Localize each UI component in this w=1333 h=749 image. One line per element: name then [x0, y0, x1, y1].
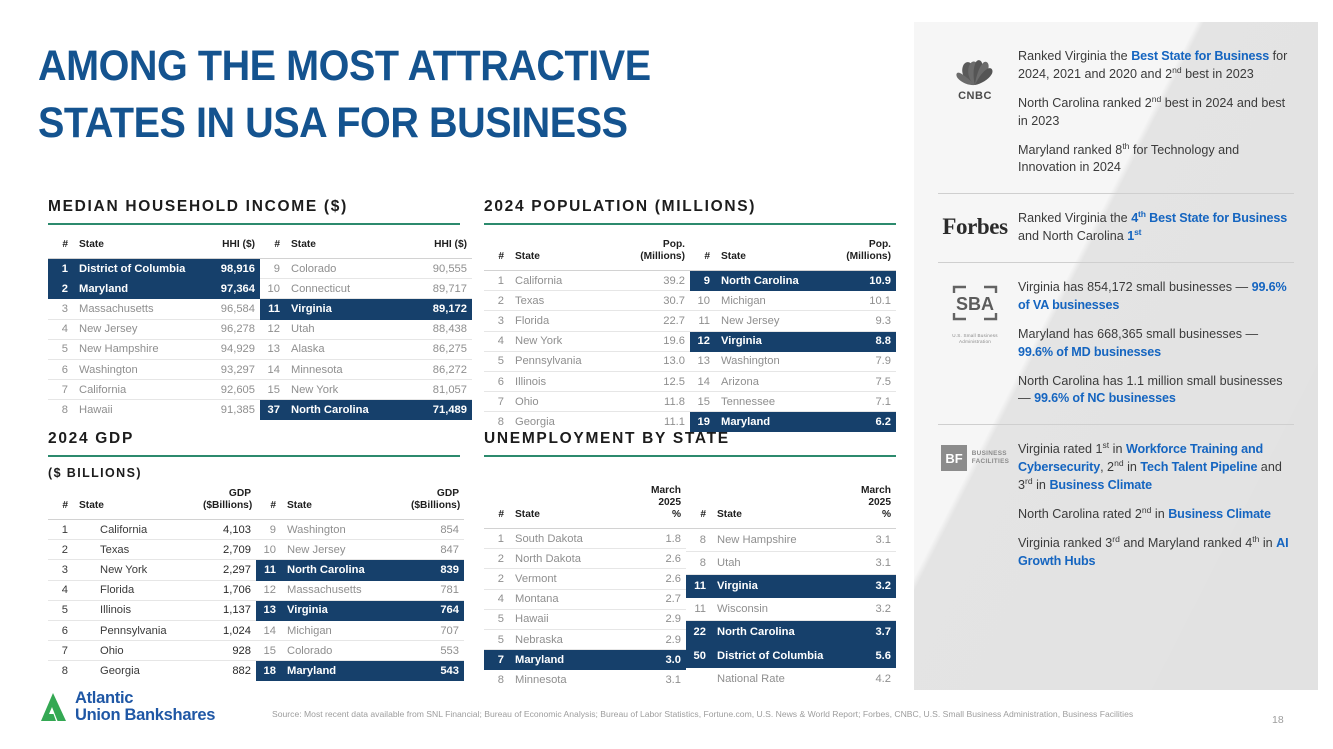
cell-value: 96,278 — [204, 319, 260, 339]
column-header-value: Pop.(Millions) — [628, 237, 690, 271]
cell-rank: 19 — [690, 412, 716, 432]
table-row: National Rate4.2 — [686, 667, 896, 690]
cell-value: 10.9 — [834, 271, 896, 291]
cell-state: California — [74, 520, 198, 540]
body-text: Maryland has 668,365 small businesses — — [1018, 327, 1258, 341]
table-row: 6Pennsylvania1,024 — [48, 621, 256, 641]
table-row: 1California4,103 — [48, 520, 256, 540]
section-2024-gdp: 2024 GDP ($ BILLIONS) #StateGDP($Billion… — [48, 430, 460, 681]
business-facilities-logo: BF BUSINESSFACILITIES — [941, 445, 1009, 471]
column-header-rank: # — [484, 237, 510, 271]
cell-rank: 9 — [256, 520, 282, 540]
cell-state: Colorado — [282, 641, 406, 661]
table-row: 19Maryland6.2 — [690, 412, 896, 432]
source-note: Source: Most recent data available from … — [272, 709, 1133, 719]
cell-rank: 10 — [260, 279, 286, 299]
cell-value: 854 — [406, 520, 464, 540]
cell-value: 22.7 — [628, 311, 690, 331]
cell-rank: 8 — [48, 661, 74, 681]
section-heading: UNEMPLOYMENT BY STATE — [484, 430, 896, 448]
cell-rank: 1 — [484, 271, 510, 291]
panel-block-cnbc: CNBCRanked Virginia the Best State for B… — [914, 48, 1318, 177]
cell-rank: 18 — [256, 661, 282, 681]
cell-value: 81,057 — [416, 380, 472, 400]
cell-state: Virginia — [716, 331, 834, 351]
cell-state: North Carolina — [282, 560, 406, 580]
cell-rank: 8 — [484, 412, 510, 432]
table-row: 15New York81,057 — [260, 380, 472, 400]
cell-value: 11.1 — [628, 412, 690, 432]
cell-state: Maryland — [282, 661, 406, 681]
cell-value: 2,709 — [198, 540, 256, 560]
cell-value: 11.8 — [628, 392, 690, 412]
cell-state: New Jersey — [282, 540, 406, 560]
cell-rank: 9 — [690, 271, 716, 291]
table-pair-income: #StateHHI ($)1District of Columbia98,916… — [48, 237, 460, 420]
cell-value: 39.2 — [628, 271, 690, 291]
cell-state: Florida — [74, 580, 198, 600]
panel-block-forbes: ForbesRanked Virginia the 4th Best State… — [914, 210, 1318, 246]
cell-value: 3.7 — [838, 621, 896, 644]
atlantic-union-mark-icon — [40, 692, 68, 722]
cell-state: Nebraska — [510, 630, 626, 650]
cnbc-peacock-icon — [951, 52, 999, 88]
table-row: 8Utah3.1 — [686, 552, 896, 575]
table-row: 10Michigan10.1 — [690, 291, 896, 311]
body-text: in — [1124, 460, 1141, 474]
table-row: 2North Dakota2.6 — [484, 549, 686, 569]
cell-value: 92,605 — [204, 380, 260, 400]
cell-rank — [686, 667, 712, 690]
cell-value: 9.3 — [834, 311, 896, 331]
page-title-line-2: STATES IN USA FOR BUSINESS — [38, 95, 645, 152]
company-logo-line-2: Union Bankshares — [75, 707, 215, 724]
section-unemployment-by-state: UNEMPLOYMENT BY STATE #StateMarch 2025%1… — [484, 430, 896, 690]
page-title-line-1: AMONG THE MOST ATTRACTIVE — [38, 38, 645, 95]
cell-rank: 7 — [48, 380, 74, 400]
cell-state: Utah — [712, 552, 838, 575]
cell-state: Michigan — [716, 291, 834, 311]
svg-text:SBA: SBA — [956, 294, 994, 314]
cell-rank: 5 — [484, 351, 510, 371]
table-gdp-left: #StateGDP($Billions)1California4,1032Tex… — [48, 486, 256, 681]
highlighted-text: 99.6% of MD businesses — [1018, 345, 1161, 359]
panel-divider — [938, 424, 1294, 425]
section-rule — [484, 223, 896, 225]
table-row: 1California39.2 — [484, 271, 690, 291]
cell-state: Minnesota — [510, 670, 626, 690]
cell-rank: 2 — [484, 291, 510, 311]
cell-rank: 6 — [484, 372, 510, 392]
table-row: 9Colorado90,555 — [260, 259, 472, 279]
table-unemployment-left: #StateMarch 2025%1South Dakota1.82North … — [484, 483, 686, 690]
table-row: 5Nebraska2.9 — [484, 630, 686, 650]
panel-logo-slot: CNBC — [932, 48, 1018, 177]
section-heading: 2024 GDP — [48, 430, 460, 448]
section-heading: MEDIAN HOUSEHOLD INCOME ($) — [48, 198, 460, 216]
panel-paragraph: North Carolina ranked 2nd best in 2024 a… — [1018, 95, 1296, 131]
table-row: 7California92,605 — [48, 380, 260, 400]
table-row: 4Montana2.7 — [484, 589, 686, 609]
table-row: 1South Dakota1.8 — [484, 529, 686, 549]
column-header-rank: # — [686, 483, 712, 529]
cell-value: 98,916 — [204, 259, 260, 279]
company-logo: Atlantic Union Bankshares — [40, 690, 215, 725]
table-pair-gdp: #StateGDP($Billions)1California4,1032Tex… — [48, 486, 460, 681]
cell-value: 8.8 — [834, 331, 896, 351]
table-row: 7Maryland3.0 — [484, 650, 686, 670]
panel-logo-slot: SBA U.S. Small BusinessAdministration — [932, 279, 1018, 408]
cell-rank: 1 — [48, 520, 74, 540]
cell-rank: 15 — [260, 380, 286, 400]
table-row: 13Alaska86,275 — [260, 339, 472, 359]
cell-value: 71,489 — [416, 400, 472, 420]
panel-text: Virginia rated 1st in Workforce Training… — [1018, 441, 1296, 570]
body-text: Maryland ranked 8 — [1018, 143, 1122, 157]
cell-value: 2.7 — [626, 589, 686, 609]
table-row: 11Virginia89,172 — [260, 299, 472, 319]
cell-rank: 2 — [48, 540, 74, 560]
cell-state: Virginia — [286, 299, 416, 319]
table-row: 4Florida1,706 — [48, 580, 256, 600]
column-header-state: State — [74, 486, 198, 520]
table-row: 50District of Columbia5.6 — [686, 644, 896, 667]
body-text: Virginia rated 1 — [1018, 442, 1102, 456]
cell-rank: 7 — [48, 641, 74, 661]
cell-state: Virginia — [282, 600, 406, 620]
cell-state: Illinois — [74, 600, 198, 620]
table-row: 14Michigan707 — [256, 621, 464, 641]
table-row: 10Connecticut89,717 — [260, 279, 472, 299]
cell-state: Alaska — [286, 339, 416, 359]
table-gdp-right: #StateGDP($Billions)9Washington85410New … — [256, 486, 464, 681]
cell-rank: 8 — [686, 529, 712, 552]
table-row: 11Virginia3.2 — [686, 575, 896, 598]
cell-rank: 11 — [260, 299, 286, 319]
section-subheading: ($ BILLIONS) — [48, 466, 460, 480]
table-row: 2Texas2,709 — [48, 540, 256, 560]
body-text: in — [1109, 442, 1126, 456]
cell-rank: 12 — [256, 580, 282, 600]
highlighted-text: Business Climate — [1168, 507, 1271, 521]
highlighted-text: Tech Talent Pipeline — [1140, 460, 1257, 474]
cell-state: New Hampshire — [712, 529, 838, 552]
cell-value: 97,364 — [204, 279, 260, 299]
cell-value: 1.8 — [626, 529, 686, 549]
panel-block-sba: SBA U.S. Small BusinessAdministrationVir… — [914, 279, 1318, 408]
cnbc-logo: CNBC — [951, 52, 999, 102]
body-text: in — [1033, 478, 1050, 492]
table-row: 12Massachusetts781 — [256, 580, 464, 600]
cell-state: Ohio — [510, 392, 628, 412]
cell-value: 3.1 — [838, 552, 896, 575]
highlighted-text: 99.6% of NC businesses — [1034, 391, 1176, 405]
cell-state: California — [74, 380, 204, 400]
cell-state: Ohio — [74, 641, 198, 661]
cell-state: New York — [74, 560, 198, 580]
cell-value: 847 — [406, 540, 464, 560]
table-row: 14Arizona7.5 — [690, 372, 896, 392]
column-header-value: Pop.(Millions) — [834, 237, 896, 271]
table-row: 1District of Columbia98,916 — [48, 259, 260, 279]
column-header-rank: # — [484, 483, 510, 529]
table-pair-population: #StatePop.(Millions)1California39.22Texa… — [484, 237, 896, 432]
cell-state: North Carolina — [286, 400, 416, 420]
highlighted-text: Best State for Business — [1146, 211, 1287, 225]
cell-state: Tennessee — [716, 392, 834, 412]
cell-state: Pennsylvania — [510, 351, 628, 371]
cell-value: 1,137 — [198, 600, 256, 620]
column-header-rank: # — [256, 486, 282, 520]
table-row: 12Virginia8.8 — [690, 331, 896, 351]
cell-state: Florida — [510, 311, 628, 331]
cell-rank: 7 — [484, 650, 510, 670]
cell-value: 7.1 — [834, 392, 896, 412]
cell-rank: 13 — [260, 339, 286, 359]
cell-value: 839 — [406, 560, 464, 580]
table-row: 3New York2,297 — [48, 560, 256, 580]
cell-rank: 13 — [690, 351, 716, 371]
cell-rank: 3 — [484, 311, 510, 331]
table-row: 11North Carolina839 — [256, 560, 464, 580]
cell-state: Pennsylvania — [74, 621, 198, 641]
sba-mark-icon: SBA — [948, 283, 1002, 325]
body-text: and North Carolina — [1018, 229, 1127, 243]
panel-paragraph: Maryland has 668,365 small businesses — … — [1018, 326, 1296, 362]
page-title: AMONG THE MOST ATTRACTIVE STATES IN USA … — [38, 38, 645, 152]
cell-rank: 4 — [48, 580, 74, 600]
cell-rank: 5 — [48, 339, 74, 359]
body-text: nd — [1172, 65, 1182, 75]
slide-root: AMONG THE MOST ATTRACTIVE STATES IN USA … — [0, 0, 1333, 749]
section-heading: 2024 POPULATION (MILLIONS) — [484, 198, 896, 216]
cell-value: 4,103 — [198, 520, 256, 540]
sba-logo: SBA U.S. Small BusinessAdministration — [948, 283, 1002, 345]
highlighted-text: Business Climate — [1049, 478, 1152, 492]
panel-logo-slot: Forbes — [932, 210, 1018, 246]
cell-state: Vermont — [510, 569, 626, 589]
cell-state: Maryland — [510, 650, 626, 670]
body-text: nd — [1114, 458, 1124, 468]
section-rule — [48, 223, 460, 225]
page-number: 18 — [1272, 714, 1284, 726]
table-row: 8Georgia11.1 — [484, 412, 690, 432]
table-row: 7Ohio928 — [48, 641, 256, 661]
cell-rank: 2 — [48, 279, 74, 299]
cell-rank: 12 — [260, 319, 286, 339]
cell-state: National Rate — [712, 667, 838, 690]
cell-rank: 14 — [256, 621, 282, 641]
cell-value: 89,717 — [416, 279, 472, 299]
cell-value: 543 — [406, 661, 464, 681]
cell-rank: 3 — [48, 560, 74, 580]
cell-rank: 8 — [484, 670, 510, 690]
cell-rank: 6 — [48, 359, 74, 379]
cell-state: Michigan — [282, 621, 406, 641]
cell-value: 90,555 — [416, 259, 472, 279]
cell-value: 3.2 — [838, 598, 896, 621]
cell-value: 2.6 — [626, 569, 686, 589]
cell-rank: 8 — [48, 400, 74, 420]
cell-rank: 5 — [48, 600, 74, 620]
cnbc-wordmark: CNBC — [951, 90, 999, 102]
body-text: rd — [1025, 476, 1033, 486]
cell-value: 882 — [198, 661, 256, 681]
panel-block-business-facilities: BF BUSINESSFACILITIESVirginia rated 1st … — [914, 441, 1318, 570]
cell-rank: 4 — [484, 331, 510, 351]
table-row: 13Virginia764 — [256, 600, 464, 620]
table-population-left: #StatePop.(Millions)1California39.22Texa… — [484, 237, 690, 432]
cell-value: 2,297 — [198, 560, 256, 580]
cell-value: 6.2 — [834, 412, 896, 432]
column-header-state: State — [282, 486, 406, 520]
cell-state: Montana — [510, 589, 626, 609]
cell-state: Georgia — [510, 412, 628, 432]
column-header-state: State — [510, 237, 628, 271]
cell-value: 4.2 — [838, 667, 896, 690]
highlighted-text: Best State for Business — [1131, 49, 1269, 63]
cell-state: Colorado — [286, 259, 416, 279]
cell-rank: 10 — [690, 291, 716, 311]
body-text: Ranked Virginia the — [1018, 49, 1131, 63]
cell-state: Utah — [286, 319, 416, 339]
column-header-rank: # — [48, 486, 74, 520]
cell-state: Wisconsin — [712, 598, 838, 621]
cell-state: Arizona — [716, 372, 834, 392]
cell-rank: 14 — [690, 372, 716, 392]
body-text: Ranked Virginia the — [1018, 211, 1131, 225]
panel-paragraph: Ranked Virginia the 4th Best State for B… — [1018, 210, 1296, 246]
cell-state: New Jersey — [74, 319, 204, 339]
table-row: 11Wisconsin3.2 — [686, 598, 896, 621]
body-text: , 2 — [1100, 460, 1114, 474]
cell-value: 96,584 — [204, 299, 260, 319]
table-row: 8Hawaii91,385 — [48, 400, 260, 420]
cell-state: South Dakota — [510, 529, 626, 549]
cell-value: 2.9 — [626, 609, 686, 629]
section-2024-population: 2024 POPULATION (MILLIONS) #StatePop.(Mi… — [484, 198, 896, 432]
panel-paragraph: Virginia rated 1st in Workforce Training… — [1018, 441, 1296, 495]
body-text: North Carolina ranked 2 — [1018, 96, 1152, 110]
column-header-value: GDP($Billions) — [406, 486, 464, 520]
table-row: 10New Jersey847 — [256, 540, 464, 560]
panel-paragraph: Virginia has 854,172 small businesses — … — [1018, 279, 1296, 315]
body-text: rd — [1112, 534, 1120, 544]
body-text: and Maryland ranked 4 — [1120, 536, 1252, 550]
cell-value: 764 — [406, 600, 464, 620]
table-pair-unemployment: #StateMarch 2025%1South Dakota1.82North … — [484, 483, 896, 690]
cell-state: Maryland — [716, 412, 834, 432]
column-header-state: State — [716, 237, 834, 271]
table-row: 5Hawaii2.9 — [484, 609, 686, 629]
cell-value: 3.1 — [838, 529, 896, 552]
section-rule — [48, 455, 460, 457]
cell-state: Hawaii — [74, 400, 204, 420]
cell-state: New York — [510, 331, 628, 351]
cell-value: 19.6 — [628, 331, 690, 351]
cell-rank: 11 — [686, 598, 712, 621]
table-row: 4New Jersey96,278 — [48, 319, 260, 339]
cell-value: 7.5 — [834, 372, 896, 392]
cell-state: Washington — [282, 520, 406, 540]
cell-value: 781 — [406, 580, 464, 600]
highlighted-text: th — [1138, 209, 1146, 219]
table-row: 8Georgia882 — [48, 661, 256, 681]
cell-state: Illinois — [510, 372, 628, 392]
section-rule — [484, 455, 896, 457]
column-header-state: State — [286, 237, 416, 259]
table-row: 11New Jersey9.3 — [690, 311, 896, 331]
cell-state: California — [510, 271, 628, 291]
cell-rank: 5 — [484, 630, 510, 650]
cell-value: 2.9 — [626, 630, 686, 650]
table-row: 2Texas30.7 — [484, 291, 690, 311]
body-text: nd — [1152, 94, 1162, 104]
cell-value: 3.0 — [626, 650, 686, 670]
table-row: 2Vermont2.6 — [484, 569, 686, 589]
cell-value: 3.1 — [626, 670, 686, 690]
cell-value: 1,024 — [198, 621, 256, 641]
cell-value: 553 — [406, 641, 464, 661]
cell-value: 12.5 — [628, 372, 690, 392]
cell-rank: 11 — [690, 311, 716, 331]
cell-state: Virginia — [712, 575, 838, 598]
sba-caption: U.S. Small BusinessAdministration — [948, 333, 1002, 345]
column-header-state: State — [510, 483, 626, 529]
table-row: 15Tennessee7.1 — [690, 392, 896, 412]
column-header-value: HHI ($) — [416, 237, 472, 259]
cell-state: Minnesota — [286, 359, 416, 379]
column-header-value: March 2025% — [838, 483, 896, 529]
table-row: 6Illinois12.5 — [484, 372, 690, 392]
forbes-logo: Forbes — [942, 214, 1007, 240]
cell-state: Massachusetts — [282, 580, 406, 600]
panel-divider — [938, 193, 1294, 194]
cell-value: 86,275 — [416, 339, 472, 359]
panel-paragraph: Virginia ranked 3rd and Maryland ranked … — [1018, 535, 1296, 571]
cell-rank: 9 — [260, 259, 286, 279]
cell-value: 7.9 — [834, 351, 896, 371]
body-text: North Carolina rated 2 — [1018, 507, 1142, 521]
body-text: best in 2023 — [1182, 67, 1254, 81]
body-text: in — [1151, 507, 1168, 521]
cell-rank: 11 — [256, 560, 282, 580]
body-text: Virginia ranked 3 — [1018, 536, 1112, 550]
cell-rank: 7 — [484, 392, 510, 412]
panel-paragraph: North Carolina rated 2nd in Business Cli… — [1018, 506, 1296, 524]
table-row: 8New Hampshire3.1 — [686, 529, 896, 552]
cell-value: 89,172 — [416, 299, 472, 319]
cell-value: 91,385 — [204, 400, 260, 420]
section-median-household-income: MEDIAN HOUSEHOLD INCOME ($) #StateHHI ($… — [48, 198, 460, 420]
cell-rank: 12 — [690, 331, 716, 351]
cell-rank: 13 — [256, 600, 282, 620]
cell-value: 88,438 — [416, 319, 472, 339]
cell-rank: 50 — [686, 644, 712, 667]
cell-rank: 6 — [48, 621, 74, 641]
column-header-rank: # — [260, 237, 286, 259]
cell-rank: 2 — [484, 549, 510, 569]
cell-value: 10.1 — [834, 291, 896, 311]
cell-state: Massachusetts — [74, 299, 204, 319]
cell-rank: 4 — [48, 319, 74, 339]
table-row: 14Minnesota86,272 — [260, 359, 472, 379]
cell-state: New Jersey — [716, 311, 834, 331]
column-header-rank: # — [48, 237, 74, 259]
cell-state: New York — [286, 380, 416, 400]
cell-value: 928 — [198, 641, 256, 661]
cell-value: 86,272 — [416, 359, 472, 379]
